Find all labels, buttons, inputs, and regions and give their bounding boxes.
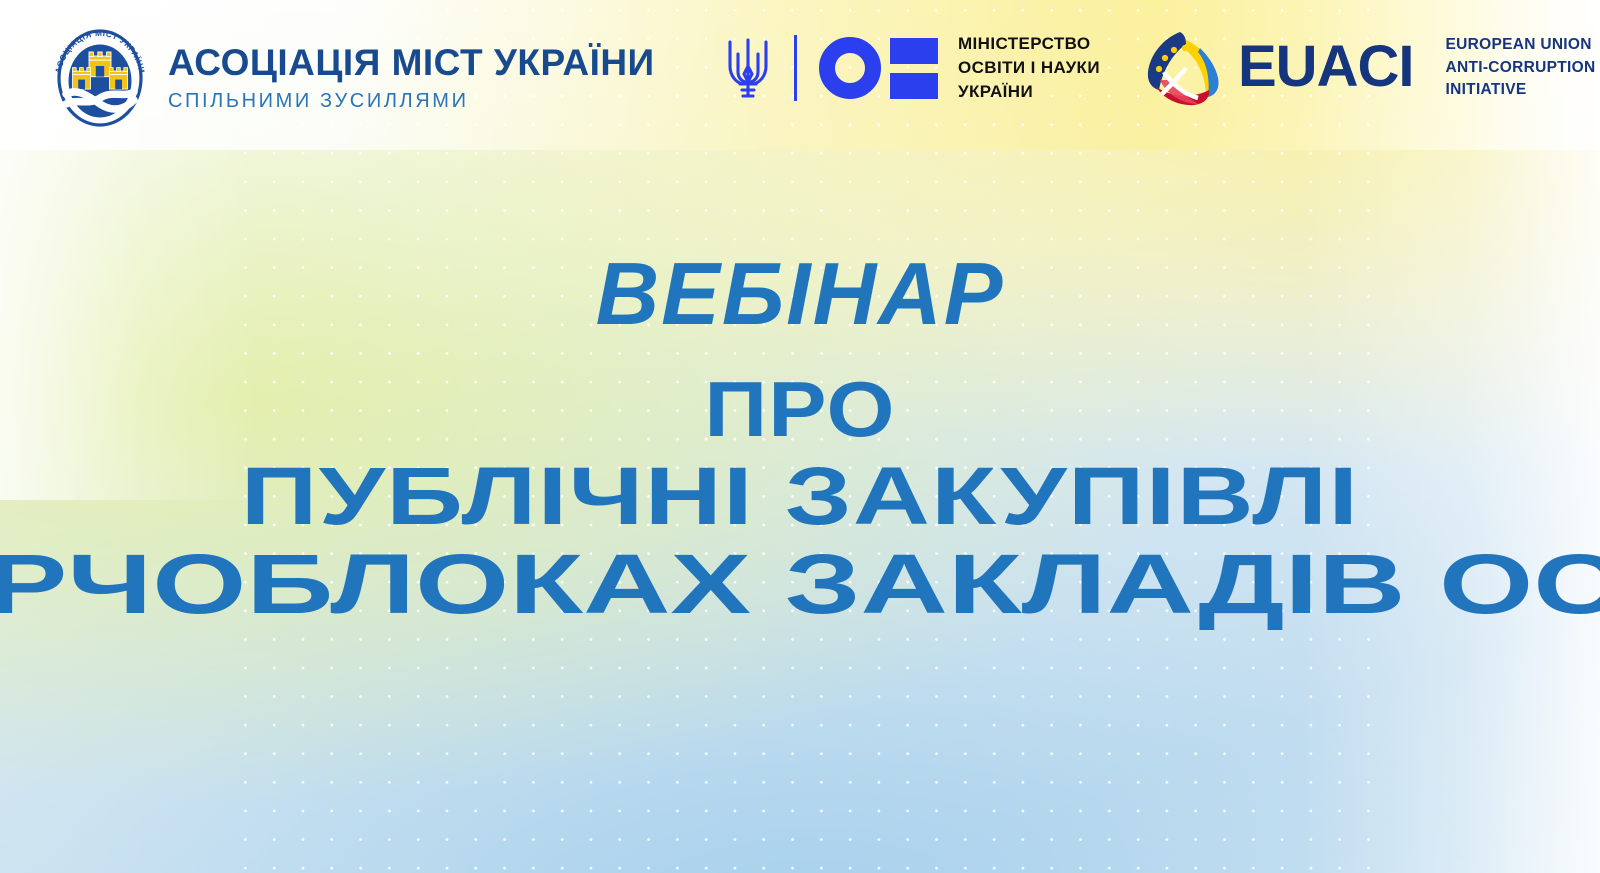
headline-line-1: ПРО [0,370,1600,448]
webinar-announcement-banner: АСОЦІАЦІЯ МІСТ УКРАЇНИ [0,0,1600,873]
headline-line-3: В ХАРЧОБЛОКАХ ЗАКЛАДІВ ОСВІТИ [0,542,1600,626]
headline-line-2: ПУБЛІЧНІ ЗАКУПІВЛІ [0,456,1600,538]
headline-kicker-webinar: ВЕБІНАР [0,250,1600,338]
headline-block: ВЕБІНАР ПРО ПУБЛІЧНІ ЗАКУПІВЛІ В ХАРЧОБЛ… [0,0,1600,873]
